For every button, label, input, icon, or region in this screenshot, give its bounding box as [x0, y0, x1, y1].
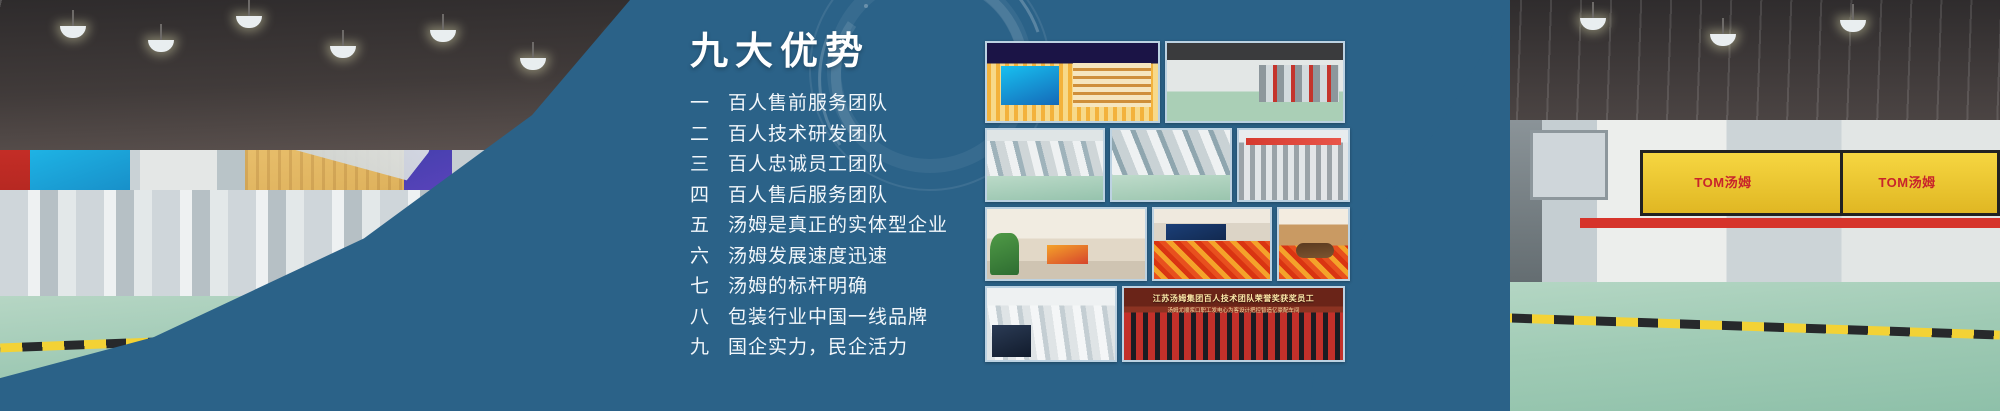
collage-photo-assembly-workshop	[1165, 41, 1345, 123]
collage-photo-conference-hall	[1152, 207, 1272, 281]
list-item-number: 五	[690, 210, 728, 241]
list-item-number: 九	[690, 332, 728, 363]
collage-row	[985, 128, 1350, 202]
list-item-number: 八	[690, 302, 728, 333]
right-photo-control-panel	[1530, 130, 1608, 200]
list-item-label: 百人售后服务团队	[728, 180, 888, 211]
list-item: 五 汤姆是真正的实体型企业	[690, 210, 990, 241]
group-photo-subtitle-text: 汤姆尤顺浆口职工发电心为客设计把控智造亿豪配车间	[1124, 305, 1343, 314]
list-item: 二 百人技术研发团队	[690, 119, 990, 150]
page-title: 九大优势	[690, 32, 990, 70]
list-item-label: 百人技术研发团队	[728, 119, 888, 150]
collage-photo-production-line-1	[985, 128, 1105, 202]
collage-photo-team-group: 江苏汤姆集团百人技术团队荣誉奖获奖员工 汤姆尤顺浆口职工发电心为客设计把控智造亿…	[1122, 286, 1345, 362]
list-item-label: 百人售前服务团队	[728, 88, 888, 119]
list-item-number: 四	[690, 180, 728, 211]
company-photo-collage: 江苏汤姆集团百人技术团队荣誉奖获奖员工 汤姆尤顺浆口职工发电心为客设计把控智造亿…	[985, 41, 1350, 371]
group-photo-banner-text: 江苏汤姆集团百人技术团队荣誉奖获奖员工	[1124, 289, 1343, 306]
list-item-label: 汤姆发展速度迅速	[728, 241, 888, 272]
collage-photo-production-line-2	[1110, 128, 1232, 202]
list-item-label: 国企实力，民企活力	[728, 332, 908, 363]
list-item: 九 国企实力，民企活力	[690, 332, 990, 363]
advantages-list: 一 百人售前服务团队 二 百人技术研发团队 三 百人忠诚员工团队 四 百人售后服…	[690, 88, 990, 363]
collage-photo-lobby	[985, 207, 1147, 281]
collage-photo-showroom	[985, 41, 1160, 123]
collage-photo-boardroom	[1277, 207, 1350, 281]
list-item-label: 百人忠诚员工团队	[728, 149, 888, 180]
list-item-number: 六	[690, 241, 728, 272]
list-item-label: 汤姆的标杆明确	[728, 271, 868, 302]
list-item: 一 百人售前服务团队	[690, 88, 990, 119]
collage-photo-office-area	[985, 286, 1117, 362]
machine-brand-label-right: TOM汤姆	[1852, 172, 1962, 190]
list-item-number: 七	[690, 271, 728, 302]
machine-brand-label-left: TOM汤姆	[1668, 172, 1778, 190]
collage-row	[985, 41, 1350, 123]
collage-row: 江苏汤姆集团百人技术团队荣誉奖获奖员工 汤姆尤顺浆口职工发电心为客设计把控智造亿…	[985, 286, 1350, 362]
list-item-label: 汤姆是真正的实体型企业	[728, 210, 948, 241]
list-item-number: 三	[690, 149, 728, 180]
list-item: 八 包装行业中国一线品牌	[690, 302, 990, 333]
list-item-label: 包装行业中国一线品牌	[728, 302, 928, 333]
list-item: 四 百人售后服务团队	[690, 180, 990, 211]
list-item-number: 二	[690, 119, 728, 150]
list-item: 三 百人忠诚员工团队	[690, 149, 990, 180]
collage-photo-parts-warehouse	[1237, 128, 1350, 202]
list-item: 六 汤姆发展速度迅速	[690, 241, 990, 272]
advantages-text-block: 九大优势 一 百人售前服务团队 二 百人技术研发团队 三 百人忠诚员工团队 四 …	[690, 32, 990, 382]
collage-row	[985, 207, 1350, 281]
right-photo-red-rail	[1580, 218, 2000, 228]
company-advantages-banner: TOM汤姆 TOM汤姆 九大优势 一 百人售前服务团队	[0, 0, 2000, 411]
list-item: 七 汤姆的标杆明确	[690, 271, 990, 302]
list-item-number: 一	[690, 88, 728, 119]
